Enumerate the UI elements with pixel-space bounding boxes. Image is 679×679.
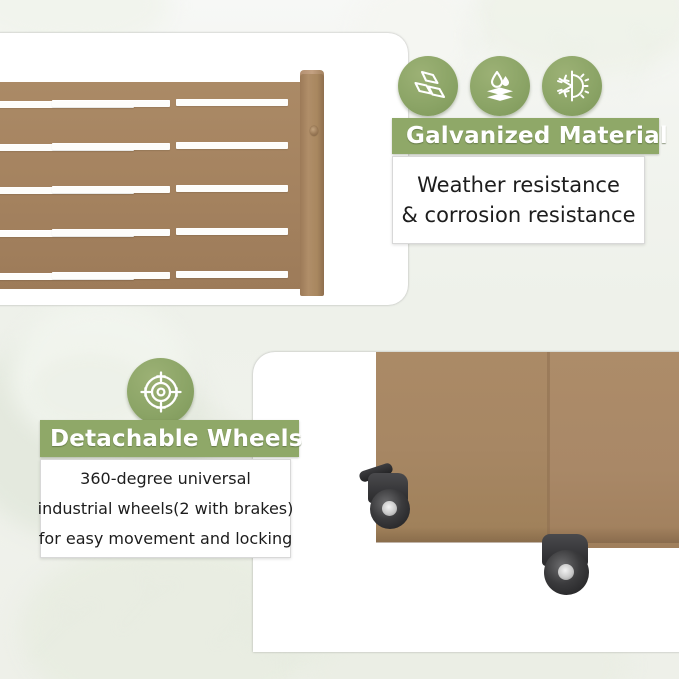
- slat-vent: [176, 185, 288, 192]
- sun-snowflake-icon: [542, 56, 602, 116]
- callout-text-box: Weather resistance & corrosion resistanc…: [392, 156, 645, 244]
- slat-vent: [176, 142, 288, 149]
- callout-title-bar: Galvanized Material: [392, 118, 659, 154]
- caster-hub: [558, 564, 574, 580]
- caster-wheel: [532, 528, 612, 606]
- cabinet-side-panel: [549, 352, 679, 548]
- slat-vent: [52, 186, 170, 193]
- slat-vent: [52, 229, 170, 236]
- callout-title: Detachable Wheels: [50, 426, 303, 452]
- slat-vent: [52, 272, 170, 279]
- callout-text-line: for easy movement and locking: [39, 524, 292, 554]
- cabinet-corner-edge: [547, 352, 550, 548]
- callout-text-line: 360-degree universal: [80, 464, 251, 494]
- caster-wheel-with-brake: [362, 465, 432, 535]
- metal-ingots-icon: [398, 56, 458, 116]
- callout-text-line: Weather resistance: [417, 170, 620, 200]
- door-lock-cylinder-icon: [310, 126, 318, 136]
- caster-hub: [382, 501, 397, 516]
- door-edge-post: [300, 74, 324, 296]
- caster-wheel-target-icon: [127, 358, 194, 425]
- callout-text-line: & corrosion resistance: [401, 200, 635, 230]
- product-feature-image: Galvanized Material Weather resistance &…: [0, 0, 679, 679]
- callout-text-box: 360-degree universal industrial wheels(2…: [40, 459, 291, 558]
- slat-vent: [52, 100, 170, 107]
- callout-title: Galvanized Material: [406, 123, 668, 149]
- feature-icon-row: [398, 56, 602, 116]
- slatted-cabinet-door: [0, 82, 306, 289]
- slat-vent: [176, 99, 288, 106]
- slat-vent: [52, 143, 170, 150]
- water-drop-layers-icon: [470, 56, 530, 116]
- slat-vent: [176, 271, 288, 278]
- feature-icon-row: [127, 358, 194, 425]
- slat-vent: [176, 228, 288, 235]
- callout-text-line: industrial wheels(2 with brakes): [38, 494, 294, 524]
- callout-title-bar: Detachable Wheels: [40, 420, 299, 457]
